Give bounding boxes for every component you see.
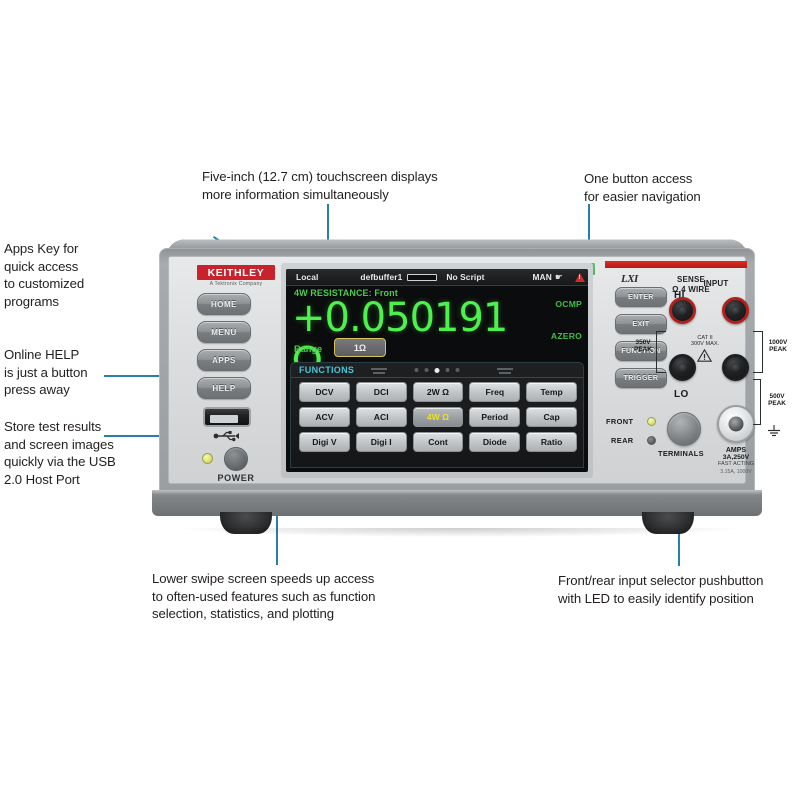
dmm6500-instrument: KEITHLEY A Tektronix Company DMM6500 6 1… xyxy=(150,236,764,526)
function-button-dcv-label: DCV xyxy=(315,387,333,397)
callout-apps-key: Apps Key for quick access to customized … xyxy=(4,240,84,310)
key-apps-label: APPS xyxy=(212,356,236,365)
key-menu[interactable]: MENU xyxy=(197,321,251,343)
swipe-dot-5[interactable] xyxy=(456,368,460,372)
swipe-panel-header: FUNCTIONS xyxy=(291,363,583,378)
amps-rating-line2: 3A,250V xyxy=(707,454,765,461)
status-buffer[interactable]: defbuffer1 xyxy=(360,272,402,282)
range-label: Range xyxy=(294,344,322,354)
swipe-panel-functions[interactable]: FUNCTIONS DCV xyxy=(290,362,584,468)
swipe-dot-4[interactable] xyxy=(446,368,450,372)
key-home[interactable]: HOME xyxy=(197,293,251,315)
front-led xyxy=(647,417,656,426)
sense-peak-label: 350V PEAK xyxy=(628,339,658,354)
power-led xyxy=(202,453,213,464)
chassis-bottom-highlight xyxy=(152,490,762,495)
key-trigger-label: TRIGGER xyxy=(624,375,659,382)
range-value: 1Ω xyxy=(354,343,366,353)
sense-lo-jack[interactable] xyxy=(669,354,696,381)
function-button-4w-ohm-active[interactable]: 4W Ω xyxy=(413,407,464,427)
status-trigger-mode[interactable]: MAN xyxy=(532,272,551,282)
key-help-label: HELP xyxy=(212,384,235,393)
function-button-aci[interactable]: ACI xyxy=(356,407,407,427)
touchscreen-display[interactable]: Local defbuffer1 No Script MAN ☛ 4W RESI… xyxy=(286,269,588,472)
lo-bracket xyxy=(753,379,761,425)
swipe-grip-right-icon xyxy=(497,368,513,370)
function-button-freq-label: Freq xyxy=(485,387,504,397)
function-button-cont[interactable]: Cont xyxy=(413,432,464,452)
status-local[interactable]: Local xyxy=(296,272,318,282)
swipe-dot-2[interactable] xyxy=(425,368,429,372)
key-enter-label: ENTER xyxy=(628,294,654,301)
function-button-dcv[interactable]: DCV xyxy=(299,382,350,402)
amps-rating-line1: AMPS xyxy=(707,447,765,454)
terminals-label: TERMINALS xyxy=(658,449,704,458)
keithley-logo-text: KEITHLEY xyxy=(208,267,265,279)
rear-label: REAR xyxy=(611,436,634,445)
callout-one-button-access: One button access for easier navigation xyxy=(584,170,701,205)
swipe-dot-1[interactable] xyxy=(415,368,419,372)
function-button-acv[interactable]: ACV xyxy=(299,407,350,427)
power-label: POWER xyxy=(197,473,275,483)
status-script[interactable]: No Script xyxy=(446,272,484,282)
function-button-2w-ohm[interactable]: 2W Ω xyxy=(413,382,464,402)
function-button-aci-label: ACI xyxy=(374,412,389,422)
chassis-shadow xyxy=(180,528,740,537)
function-button-ratio-label: Ratio xyxy=(541,437,562,447)
lo-label: LO xyxy=(674,389,689,400)
status-bar: Local defbuffer1 No Script MAN ☛ xyxy=(286,269,588,286)
callout-front-rear-selector: Front/rear input selector pushbutton wit… xyxy=(558,572,763,607)
input-lo-jack[interactable] xyxy=(722,354,749,381)
page-root: Five-inch (12.7 cm) touchscreen displays… xyxy=(0,0,800,800)
function-button-cont-label: Cont xyxy=(428,437,448,447)
function-button-freq[interactable]: Freq xyxy=(469,382,520,402)
callout-lower-swipe-screen: Lower swipe screen speeds up access to o… xyxy=(152,570,375,623)
input-hi-jack[interactable] xyxy=(722,297,749,324)
front-panel: KEITHLEY A Tektronix Company DMM6500 6 1… xyxy=(168,256,746,484)
rear-led xyxy=(647,436,656,445)
cat-rating-line2: 300V MAX. xyxy=(691,341,719,347)
input-title: INPUT xyxy=(689,279,743,289)
function-button-grid: DCV DCI 2W Ω Freq Temp ACV ACI 4W Ω Peri… xyxy=(299,382,577,452)
keithley-logo: KEITHLEY xyxy=(197,265,275,280)
front-label: FRONT xyxy=(606,417,633,426)
amps-rating-line3: FAST ACTING xyxy=(707,461,765,468)
amps-jack[interactable] xyxy=(717,405,755,443)
function-button-digi-v-label: Digi V xyxy=(312,437,336,447)
screen-bezel: Local defbuffer1 No Script MAN ☛ 4W RESI… xyxy=(281,263,593,478)
function-button-diode-label: Diode xyxy=(483,437,507,447)
function-button-digi-v[interactable]: Digi V xyxy=(299,432,350,452)
swipe-page-dots[interactable] xyxy=(415,368,460,373)
amps-rating-line4: 3.15A, 1000V xyxy=(707,469,765,476)
warning-triangle-terminal-icon xyxy=(697,349,712,367)
key-exit-label: EXIT xyxy=(632,321,649,328)
function-button-temp[interactable]: Temp xyxy=(526,382,577,402)
swipe-dot-3-active[interactable] xyxy=(435,368,440,373)
function-button-period-label: Period xyxy=(481,412,508,422)
key-enter[interactable]: ENTER xyxy=(615,287,667,307)
cat-rating-line1: CAT II xyxy=(697,335,712,341)
function-button-cap[interactable]: Cap xyxy=(526,407,577,427)
sense-hi-jack[interactable] xyxy=(669,297,696,324)
function-button-period[interactable]: Period xyxy=(469,407,520,427)
warning-triangle-icon[interactable] xyxy=(575,273,585,282)
range-button[interactable]: 1Ω xyxy=(334,338,386,357)
swipe-panel-title: FUNCTIONS xyxy=(299,365,354,375)
function-button-temp-label: Temp xyxy=(540,387,562,397)
function-button-cap-label: Cap xyxy=(543,412,559,422)
key-home-label: HOME xyxy=(211,300,237,309)
earth-ground-icon xyxy=(765,425,783,444)
lo-peak-label: 500V PEAK xyxy=(761,393,793,408)
function-button-ratio[interactable]: Ratio xyxy=(526,432,577,452)
indicator-ocmp: OCMP xyxy=(555,299,582,309)
function-button-digi-i-label: Digi I xyxy=(371,437,392,447)
amps-rating-block: AMPS 3A,250V FAST ACTING 3.15A, 1000V xyxy=(707,447,765,476)
cat-rating-label: CAT II 300V MAX. xyxy=(681,335,729,348)
tektronix-subtitle: A Tektronix Company xyxy=(197,281,275,287)
red-accent-stripe xyxy=(605,261,747,268)
key-menu-label: MENU xyxy=(211,328,237,337)
status-buffer-bar xyxy=(407,274,437,281)
key-apps[interactable]: APPS xyxy=(197,349,251,371)
usb-host-port[interactable] xyxy=(203,407,251,427)
callout-online-help: Online HELP is just a button press away xyxy=(4,346,87,399)
hand-pointer-icon: ☛ xyxy=(555,272,563,283)
terminals-selector-button[interactable] xyxy=(667,412,701,446)
input-peak-label: 1000V PEAK xyxy=(761,339,795,354)
usb-icon xyxy=(213,429,241,441)
function-button-2w-ohm-label: 2W Ω xyxy=(427,387,449,397)
function-button-acv-label: ACV xyxy=(315,412,333,422)
lxi-logo: LXI xyxy=(621,273,638,285)
indicator-azero: AZERO xyxy=(551,331,582,341)
usb-port-contact xyxy=(210,415,238,423)
key-help[interactable]: HELP xyxy=(197,377,251,399)
function-button-4w-ohm-label: 4W Ω xyxy=(427,412,449,422)
function-button-digi-i[interactable]: Digi I xyxy=(356,432,407,452)
swipe-grip-left-icon xyxy=(371,368,387,370)
callout-usb-host-port: Store test results and screen images qui… xyxy=(4,418,116,488)
function-button-dci-label: DCI xyxy=(374,387,389,397)
power-button[interactable] xyxy=(224,447,248,471)
function-button-dci[interactable]: DCI xyxy=(356,382,407,402)
function-button-diode[interactable]: Diode xyxy=(469,432,520,452)
callout-touchscreen: Five-inch (12.7 cm) touchscreen displays… xyxy=(202,168,438,203)
